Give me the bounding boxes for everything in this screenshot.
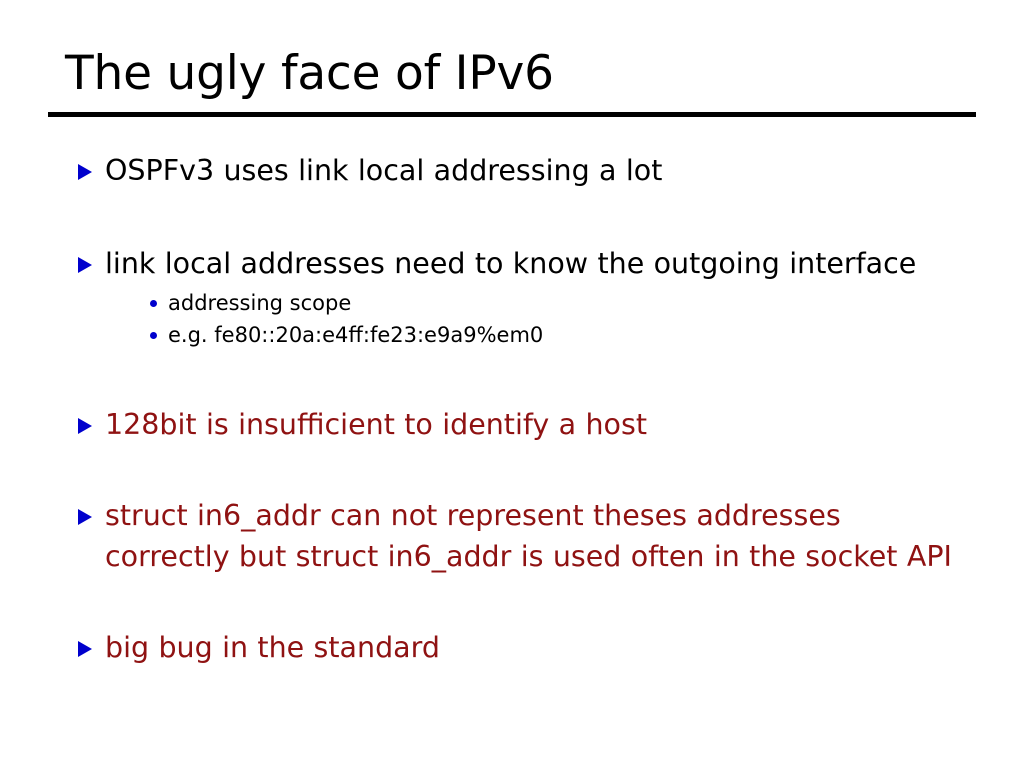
- list-item: link local addresses need to know the ou…: [64, 243, 964, 352]
- list-item: big bug in the standard: [64, 627, 964, 668]
- title-block: The ugly face of IPv6: [48, 48, 976, 101]
- list-item: 128bit is insufficient to identify a hos…: [64, 404, 964, 445]
- list-item: struct in6_addr can not represent theses…: [64, 495, 964, 577]
- sub-bullet-list: addressing scope e.g. fe80::20a:e4ff:fe2…: [105, 288, 964, 352]
- triangle-right-icon: [78, 509, 92, 525]
- title-underline-rule: [48, 112, 976, 117]
- dot-icon: [150, 300, 157, 307]
- sub-list-item: addressing scope: [105, 288, 964, 320]
- bullet-list: OSPFv3 uses link local addressing a lot …: [64, 150, 964, 668]
- list-item-label: OSPFv3 uses link local addressing a lot: [105, 150, 964, 191]
- sub-list-item-label: addressing scope: [168, 288, 351, 319]
- slide-canvas: The ugly face of IPv6 OSPFv3 uses link l…: [0, 0, 1024, 768]
- list-item-label: 128bit is insufficient to identify a hos…: [105, 404, 964, 445]
- sub-list-item-label: e.g. fe80::20a:e4ff:fe23:e9a9%em0: [168, 320, 543, 351]
- page-title: The ugly face of IPv6: [48, 48, 976, 101]
- triangle-right-icon: [78, 418, 92, 434]
- triangle-right-icon: [78, 257, 92, 273]
- triangle-right-icon: [78, 641, 92, 657]
- list-item-label: big bug in the standard: [105, 627, 964, 668]
- dot-icon: [150, 332, 157, 339]
- list-item-label: struct in6_addr can not represent theses…: [105, 495, 964, 577]
- list-item-label: link local addresses need to know the ou…: [105, 243, 964, 284]
- sub-list-item: e.g. fe80::20a:e4ff:fe23:e9a9%em0: [105, 320, 964, 352]
- triangle-right-icon: [78, 164, 92, 180]
- list-item: OSPFv3 uses link local addressing a lot: [64, 150, 964, 191]
